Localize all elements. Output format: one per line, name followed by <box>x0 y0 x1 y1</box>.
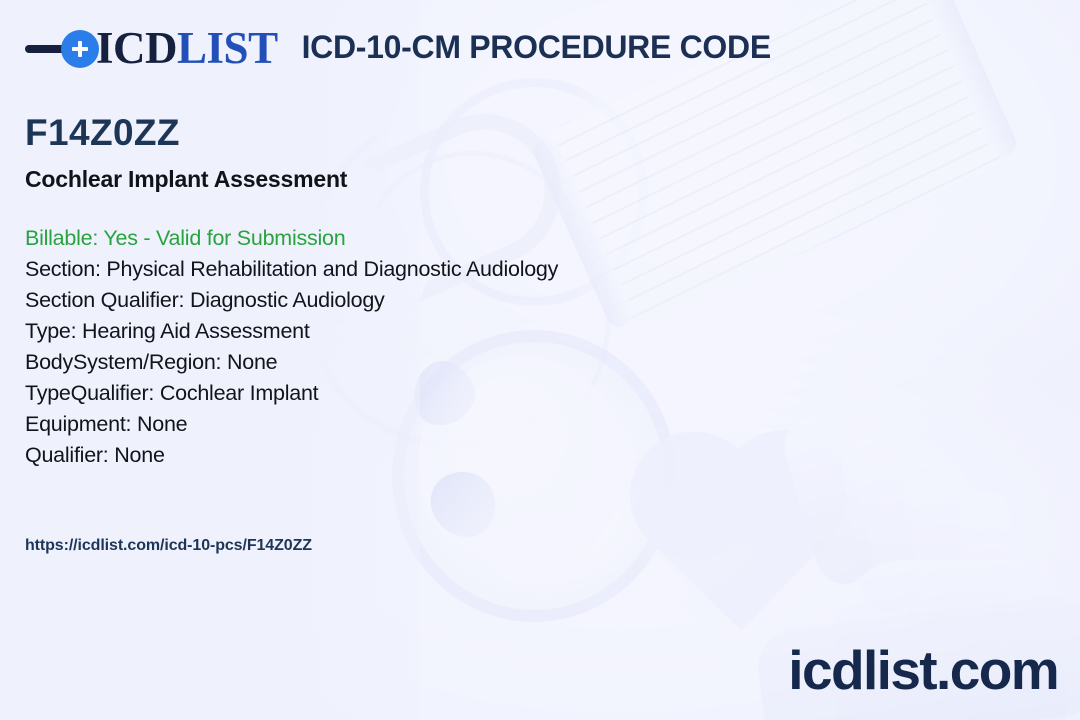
detail-line: TypeQualifier: Cochlear Implant <box>25 378 905 409</box>
detail-line: Qualifier: None <box>25 440 905 471</box>
icd-code-card: ICD LIST ICD-10-CM PROCEDURE CODE F14Z0Z… <box>0 0 1080 720</box>
plus-circle-icon <box>61 30 99 68</box>
page-title: ICD-10-CM PROCEDURE CODE <box>302 29 771 68</box>
detail-line: BodySystem/Region: None <box>25 347 905 378</box>
detail-line: Section Qualifier: Diagnostic Audiology <box>25 285 905 316</box>
detail-line: Type: Hearing Aid Assessment <box>25 316 905 347</box>
icdlist-logo[interactable]: ICD LIST <box>25 26 278 71</box>
logo-text-icd: ICD <box>96 26 177 71</box>
card-content: ICD LIST ICD-10-CM PROCEDURE CODE F14Z0Z… <box>0 0 1080 720</box>
procedure-code: F14Z0ZZ <box>25 112 180 154</box>
detail-line: Equipment: None <box>25 409 905 440</box>
code-detail-list: Billable: Yes - Valid for SubmissionSect… <box>25 223 905 471</box>
page-header: ICD LIST ICD-10-CM PROCEDURE CODE <box>25 26 771 71</box>
footer-brand-watermark: icdlist.com <box>788 643 1058 698</box>
detail-line: Section: Physical Rehabilitation and Dia… <box>25 254 905 285</box>
detail-line: Billable: Yes - Valid for Submission <box>25 223 905 254</box>
logo-text-list: LIST <box>177 26 278 71</box>
source-url[interactable]: https://icdlist.com/icd-10-pcs/F14Z0ZZ <box>25 537 312 555</box>
procedure-code-description: Cochlear Implant Assessment <box>25 166 347 193</box>
